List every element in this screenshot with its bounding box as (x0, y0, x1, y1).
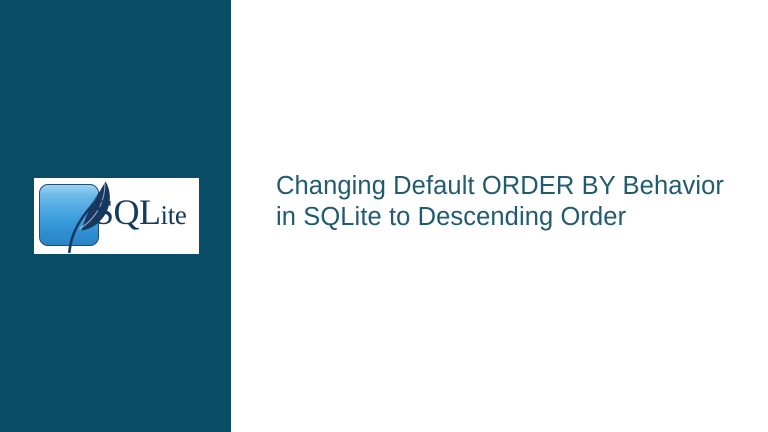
slide-title: Changing Default ORDER BY Behavior in SQ… (276, 171, 736, 233)
sqlite-wordmark: SQLite (94, 194, 199, 250)
sqlite-logo: SQLite (34, 178, 199, 254)
sqlite-logo-inner: SQLite (34, 178, 199, 254)
sqlite-wordmark-secondary: ite (161, 200, 187, 230)
sqlite-wordmark-primary: SQL (94, 192, 161, 232)
title-slide: SQLite Changing Default ORDER BY Behavio… (0, 0, 768, 432)
brand-panel: SQLite (0, 0, 231, 432)
content-panel: Changing Default ORDER BY Behavior in SQ… (231, 0, 768, 432)
